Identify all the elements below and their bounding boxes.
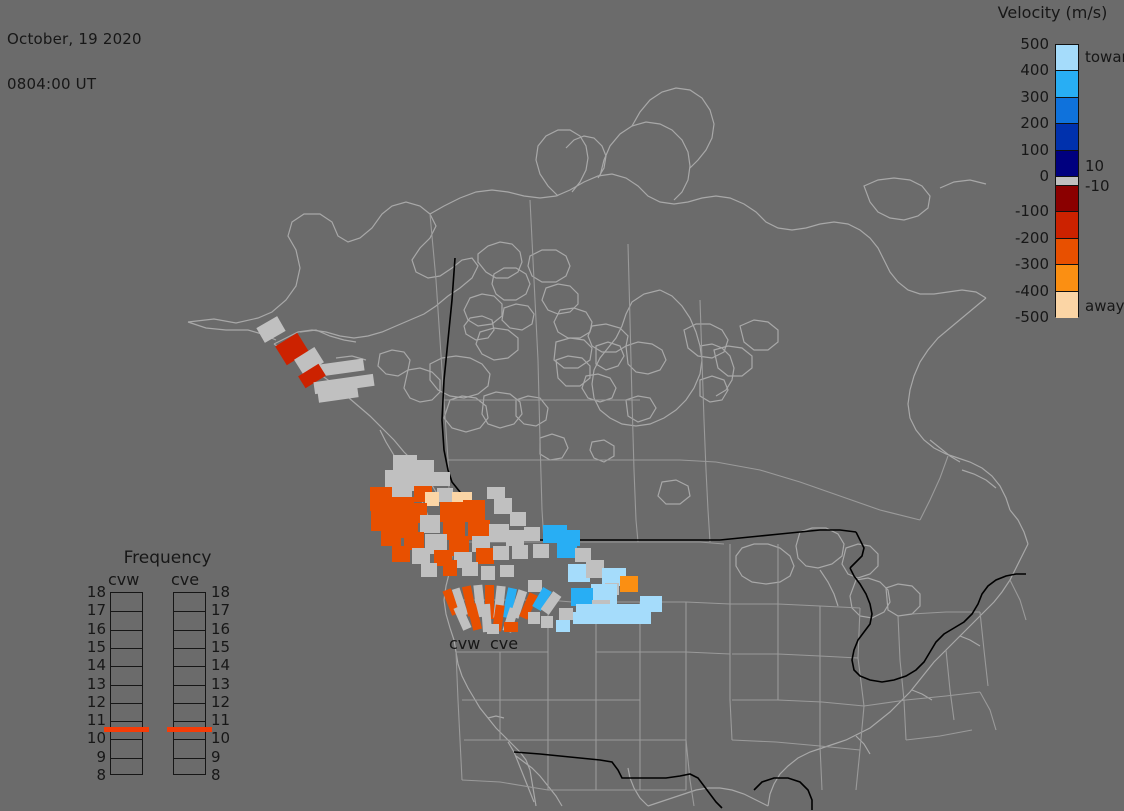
frequency-label-left-14: 14 xyxy=(84,656,106,674)
frequency-tick xyxy=(174,630,205,631)
radar-echo-cell xyxy=(481,566,495,580)
frequency-label-right-13: 13 xyxy=(211,675,233,693)
frequency-label-left-16: 16 xyxy=(84,620,106,638)
colorbar-tick-400: 400 xyxy=(1003,61,1049,79)
radar-site-label-cvw: cvw xyxy=(449,634,480,653)
frequency-column-name-cve: cve xyxy=(171,570,199,589)
timestamp: October, 19 2020 0804:00 UT xyxy=(7,2,142,122)
radar-echo-cell xyxy=(524,527,540,541)
frequency-tick xyxy=(174,721,205,722)
frequency-label-right-18: 18 xyxy=(211,583,233,601)
frequency-tick xyxy=(111,648,142,649)
frequency-tick xyxy=(111,703,142,704)
frequency-tick xyxy=(111,758,142,759)
frequency-column-name-cvw: cvw xyxy=(108,570,139,589)
colorbar-toward-label: toward xyxy=(1085,48,1124,66)
frequency-tick xyxy=(174,758,205,759)
frequency-label-right-10: 10 xyxy=(211,729,233,747)
colorbar-band-6 xyxy=(1056,186,1078,212)
frequency-legend-title: Frequency xyxy=(85,548,250,568)
colorbar-band-2 xyxy=(1056,98,1078,124)
colorbar-tick--100: -100 xyxy=(1003,202,1049,220)
frequency-tick xyxy=(111,611,142,612)
timestamp-time: 0804:00 UT xyxy=(7,77,142,92)
frequency-label-left-11: 11 xyxy=(84,711,106,729)
frequency-marker-cve xyxy=(167,727,212,732)
radar-echo-cell xyxy=(510,512,526,526)
frequency-tick xyxy=(111,739,142,740)
frequency-tick xyxy=(174,703,205,704)
frequency-tick xyxy=(174,648,205,649)
frequency-scale-cvw xyxy=(110,592,143,775)
frequency-tick xyxy=(174,685,205,686)
radar-echo-cell xyxy=(428,472,450,486)
frequency-label-right-11: 11 xyxy=(211,711,233,729)
radar-echo-cell xyxy=(640,596,662,612)
radar-echo-cell xyxy=(512,545,528,559)
radar-echo-cell xyxy=(533,544,549,558)
frequency-label-right-14: 14 xyxy=(211,656,233,674)
radar-echo-cell xyxy=(392,546,410,562)
frequency-label-right-17: 17 xyxy=(211,601,233,619)
frequency-label-left-10: 10 xyxy=(84,729,106,747)
frequency-label-left-15: 15 xyxy=(84,638,106,656)
frequency-tick xyxy=(111,721,142,722)
colorbar-band-3 xyxy=(1056,124,1078,150)
radar-echo-cell xyxy=(500,565,514,577)
colorbar-tick-200: 200 xyxy=(1003,114,1049,132)
radar-echo-cell xyxy=(487,624,499,634)
radar-echo-cell xyxy=(557,540,577,558)
frequency-tick xyxy=(111,630,142,631)
frequency-label-left-8: 8 xyxy=(84,766,106,784)
radar-echo-cell xyxy=(541,616,553,628)
frequency-label-right-12: 12 xyxy=(211,693,233,711)
radar-echo-cell xyxy=(559,608,573,620)
velocity-legend-title: Velocity (m/s) xyxy=(981,3,1124,22)
frequency-tick xyxy=(111,685,142,686)
radar-echo-cell xyxy=(443,560,457,576)
colorbar-band-10 xyxy=(1056,292,1078,318)
colorbar-band-7 xyxy=(1056,212,1078,238)
colorbar-away-label: away xyxy=(1085,297,1124,315)
radar-echo-cell xyxy=(437,488,453,502)
colorbar-band-1 xyxy=(1056,71,1078,97)
colorbar-tick-0: 0 xyxy=(1003,167,1049,185)
frequency-label-left-12: 12 xyxy=(84,693,106,711)
colorbar-band-4 xyxy=(1056,151,1078,177)
colorbar-band-0 xyxy=(1056,45,1078,71)
radar-echo-cell xyxy=(573,612,651,624)
frequency-label-right-8: 8 xyxy=(211,766,233,784)
radar-echo-cell xyxy=(381,528,401,546)
colorbar-tick--300: -300 xyxy=(1003,255,1049,273)
radar-echo-cell xyxy=(528,612,540,624)
colorbar-inner-lower-label: -10 xyxy=(1085,177,1110,195)
frequency-tick xyxy=(174,666,205,667)
radar-echo-cell xyxy=(506,530,524,546)
frequency-label-right-15: 15 xyxy=(211,638,233,656)
radar-echo-cell xyxy=(620,576,638,592)
frequency-marker-cvw xyxy=(104,727,149,732)
radar-echo-cell xyxy=(256,316,285,343)
radar-echo-cell xyxy=(556,620,570,632)
colorbar-tick--200: -200 xyxy=(1003,229,1049,247)
colorbar-band-5 xyxy=(1056,177,1078,186)
frequency-label-left-9: 9 xyxy=(84,748,106,766)
colorbar-tick-300: 300 xyxy=(1003,88,1049,106)
colorbar-inner-upper-label: 10 xyxy=(1085,157,1104,175)
radar-echo-cell xyxy=(425,492,439,506)
frequency-label-right-9: 9 xyxy=(211,748,233,766)
frequency-label-left-18: 18 xyxy=(84,583,106,601)
colorbar-band-9 xyxy=(1056,265,1078,291)
frequency-scale-cve xyxy=(173,592,206,775)
frequency-label-left-13: 13 xyxy=(84,675,106,693)
frequency-tick xyxy=(174,611,205,612)
radar-echo-cell xyxy=(462,562,478,576)
frequency-label-right-16: 16 xyxy=(211,620,233,638)
colorbar-tick--400: -400 xyxy=(1003,282,1049,300)
radar-echo-cell xyxy=(493,546,509,560)
radar-echo-cell xyxy=(504,622,518,632)
radar-echo-cell xyxy=(412,548,430,564)
radar-echo-cell xyxy=(463,500,485,522)
colorbar-tick--500: -500 xyxy=(1003,308,1049,326)
radar-site-label-cve: cve xyxy=(490,634,518,653)
velocity-colorbar xyxy=(1055,44,1079,317)
frequency-tick xyxy=(174,739,205,740)
colorbar-tick-100: 100 xyxy=(1003,141,1049,159)
radar-echo-cell xyxy=(421,563,437,577)
radar-echo-cell xyxy=(476,548,494,564)
colorbar-band-8 xyxy=(1056,239,1078,265)
colorbar-tick-500: 500 xyxy=(1003,35,1049,53)
frequency-tick xyxy=(111,666,142,667)
timestamp-date: October, 19 2020 xyxy=(7,32,142,47)
radar-map-canvas: October, 19 2020 0804:00 UT Velocity (m/… xyxy=(0,0,1124,811)
frequency-label-left-17: 17 xyxy=(84,601,106,619)
radar-echo-cell xyxy=(420,515,440,533)
frequency-legend: Frequency cvwcve181817171616151514141313… xyxy=(85,548,250,783)
